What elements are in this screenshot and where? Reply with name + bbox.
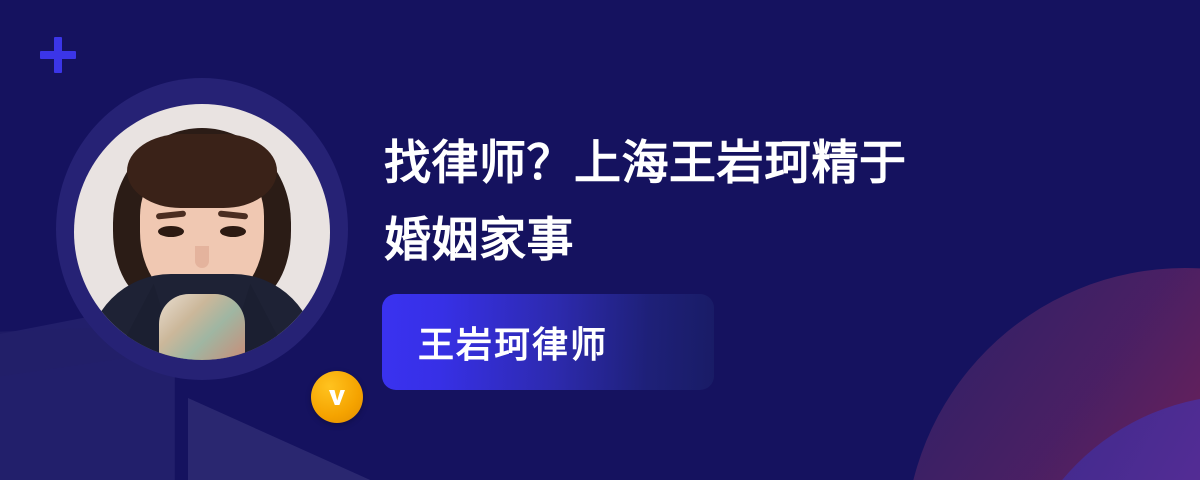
verified-check-icon <box>311 371 363 423</box>
lawyer-promo-banner: 找律师？上海王岩珂精于 婚姻家事 王岩珂律师 <box>0 0 1200 480</box>
portrait-nose <box>195 246 209 268</box>
lawyer-name-button[interactable]: 王岩珂律师 <box>382 294 714 390</box>
portrait-scarf <box>159 294 245 360</box>
portrait-hair-front <box>127 134 277 208</box>
portrait-eye-left <box>158 226 184 237</box>
portrait-eye-right <box>220 226 246 237</box>
plus-icon <box>40 37 76 73</box>
avatar-photo <box>74 104 330 360</box>
page-title: 找律师？上海王岩珂精于 婚姻家事 <box>384 124 1084 278</box>
avatar <box>56 78 348 380</box>
